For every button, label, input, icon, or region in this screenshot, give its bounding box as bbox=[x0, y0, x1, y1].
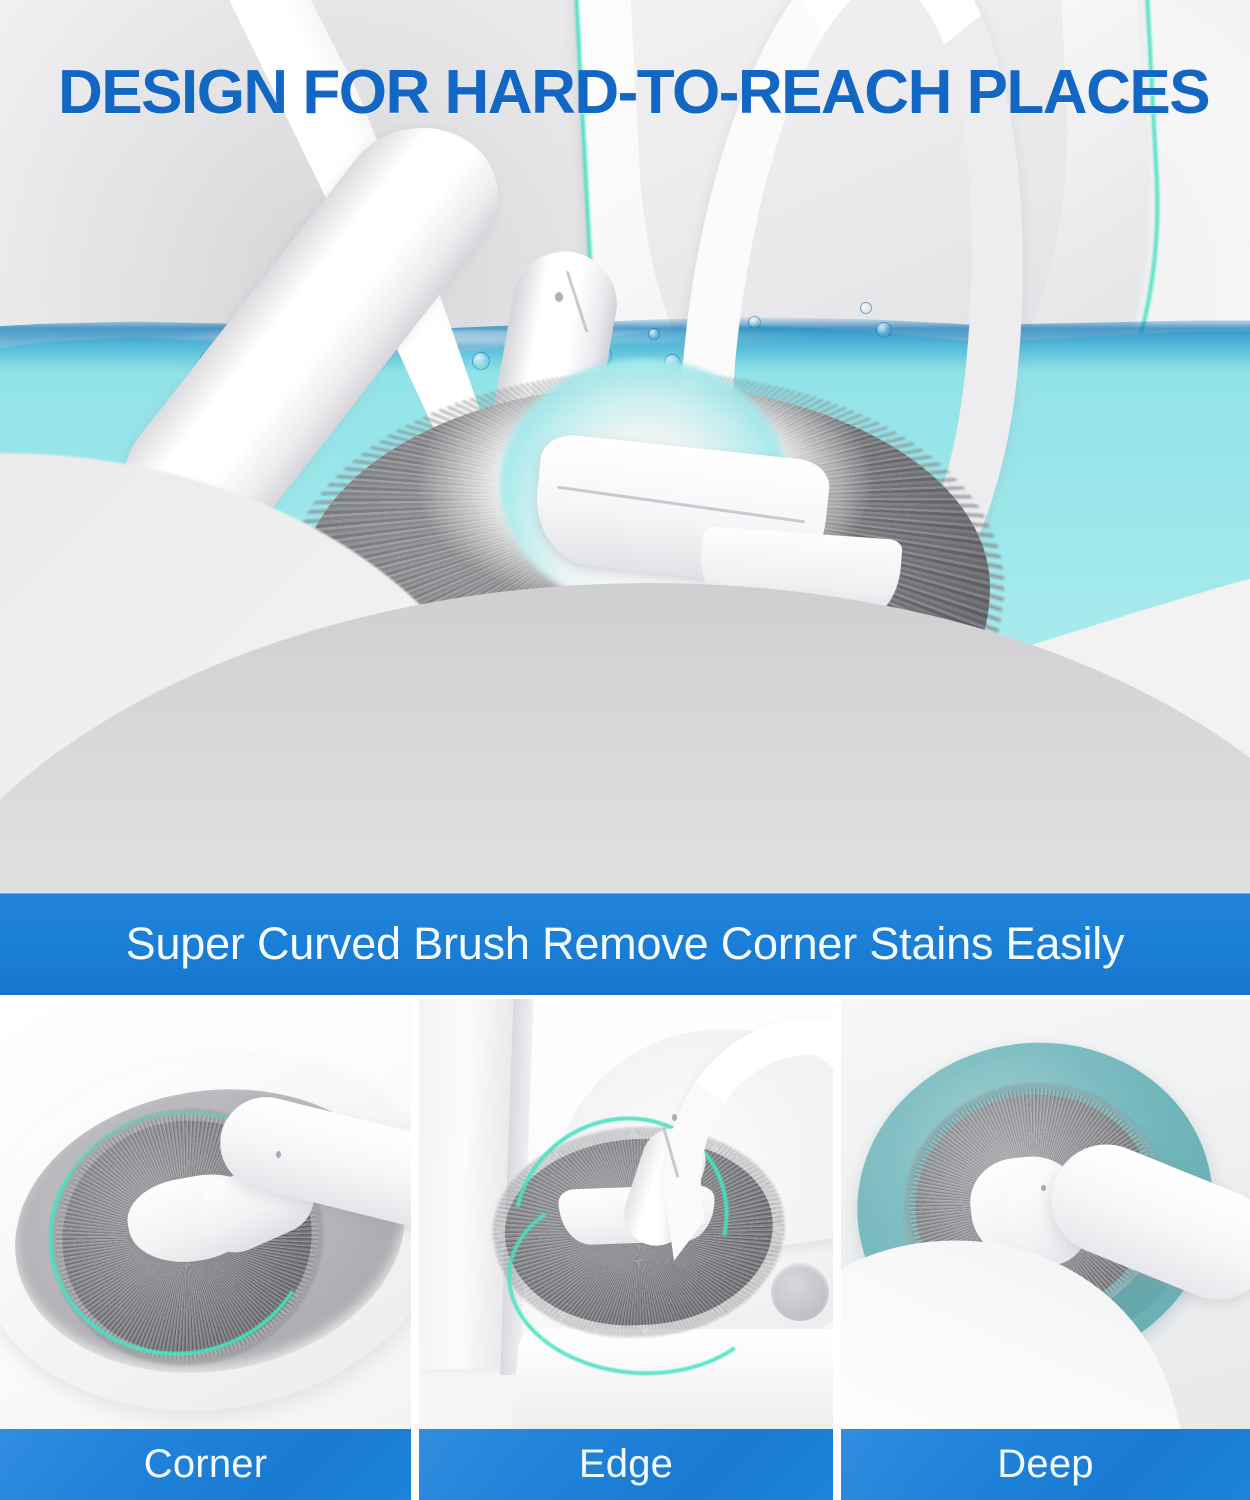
panel-edge-photo bbox=[419, 999, 833, 1429]
subtitle-banner: Super Curved Brush Remove Corner Stains … bbox=[0, 893, 1250, 995]
drain-hole bbox=[771, 1263, 829, 1321]
panel-edge: Edge bbox=[419, 999, 833, 1500]
panel-edge-caption: Edge bbox=[419, 1429, 833, 1500]
panel-corner-caption-text: Corner bbox=[144, 1442, 267, 1487]
handle-vent-dot bbox=[276, 1151, 281, 1158]
page-title: DESIGN FOR HARD-TO-REACH PLACES bbox=[58, 62, 1209, 124]
panel-deep: Deep bbox=[841, 999, 1250, 1500]
handle-vent-dot bbox=[672, 1114, 677, 1121]
panel-edge-caption-text: Edge bbox=[579, 1442, 673, 1487]
panel-corner: Corner bbox=[0, 999, 411, 1500]
panel-corner-caption: Corner bbox=[0, 1429, 411, 1500]
handle-vent-dot bbox=[555, 292, 563, 302]
panel-deep-photo bbox=[841, 999, 1250, 1429]
product-feature-page: DESIGN FOR HARD-TO-REACH PLACES Super Cu… bbox=[0, 0, 1250, 1500]
hero-image: DESIGN FOR HARD-TO-REACH PLACES bbox=[0, 0, 1250, 893]
use-case-panels: Corner bbox=[0, 999, 1250, 1500]
subtitle-banner-text: Super Curved Brush Remove Corner Stains … bbox=[126, 918, 1125, 970]
bubble bbox=[472, 352, 490, 370]
handle-vent-dot bbox=[1041, 1185, 1046, 1191]
panel-deep-caption: Deep bbox=[841, 1429, 1250, 1500]
panel-deep-caption-text: Deep bbox=[997, 1442, 1093, 1487]
panel-corner-photo bbox=[0, 999, 411, 1429]
bubble bbox=[648, 328, 660, 340]
